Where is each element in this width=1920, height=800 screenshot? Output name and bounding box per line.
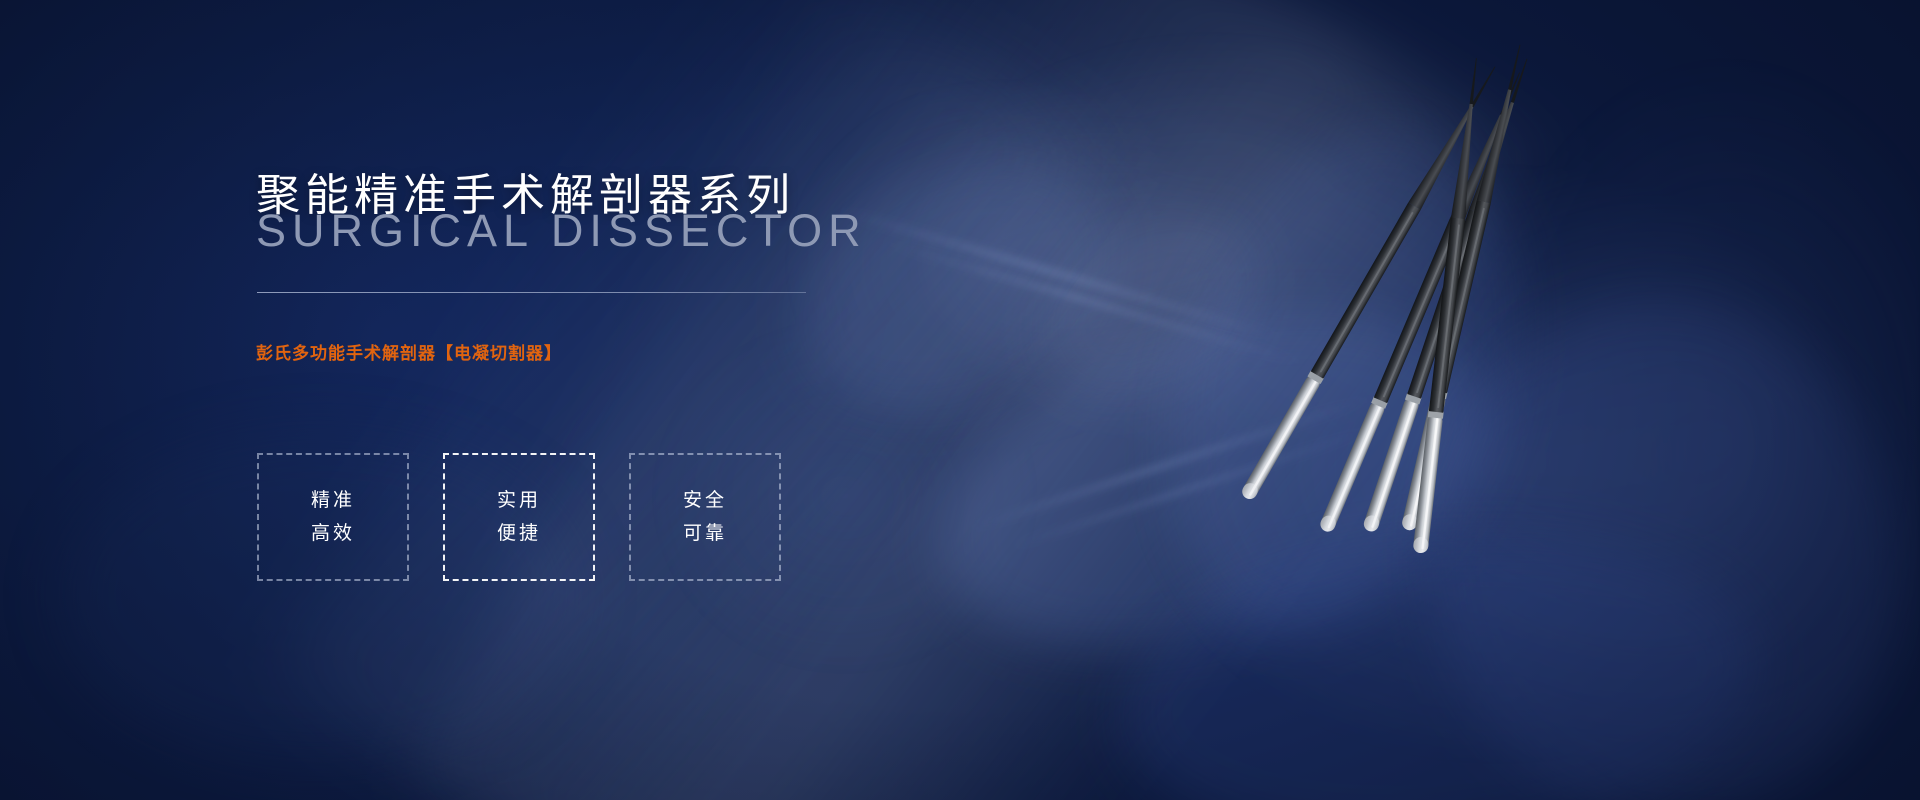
feature-badge-practical-line1: 实用: [497, 488, 541, 514]
page-subtitle-en: SURGICAL DISSECTOR: [256, 205, 867, 257]
title-divider: [257, 292, 806, 293]
hero-banner: 聚能精准手术解剖器系列 SURGICAL DISSECTOR 彭氏多功能手术解剖…: [0, 0, 1920, 800]
feature-badge-precision-line1: 精准: [311, 488, 355, 514]
feature-badge-precision-line2: 高效: [311, 521, 355, 547]
feature-badge-safety[interactable]: 安全 可靠: [629, 453, 781, 581]
feature-badge-practical[interactable]: 实用 便捷: [443, 453, 595, 581]
feature-badge-safety-line2: 可靠: [683, 521, 727, 547]
feature-badge-list: 精准 高效 实用 便捷 安全 可靠: [257, 453, 781, 581]
feature-badge-precision[interactable]: 精准 高效: [257, 453, 409, 581]
feature-badge-practical-line2: 便捷: [497, 521, 541, 547]
banner-content: 聚能精准手术解剖器系列 SURGICAL DISSECTOR 彭氏多功能手术解剖…: [0, 0, 960, 800]
feature-badge-safety-line1: 安全: [683, 488, 727, 514]
product-line-label: 彭氏多功能手术解剖器【电凝切割器】: [256, 339, 562, 364]
